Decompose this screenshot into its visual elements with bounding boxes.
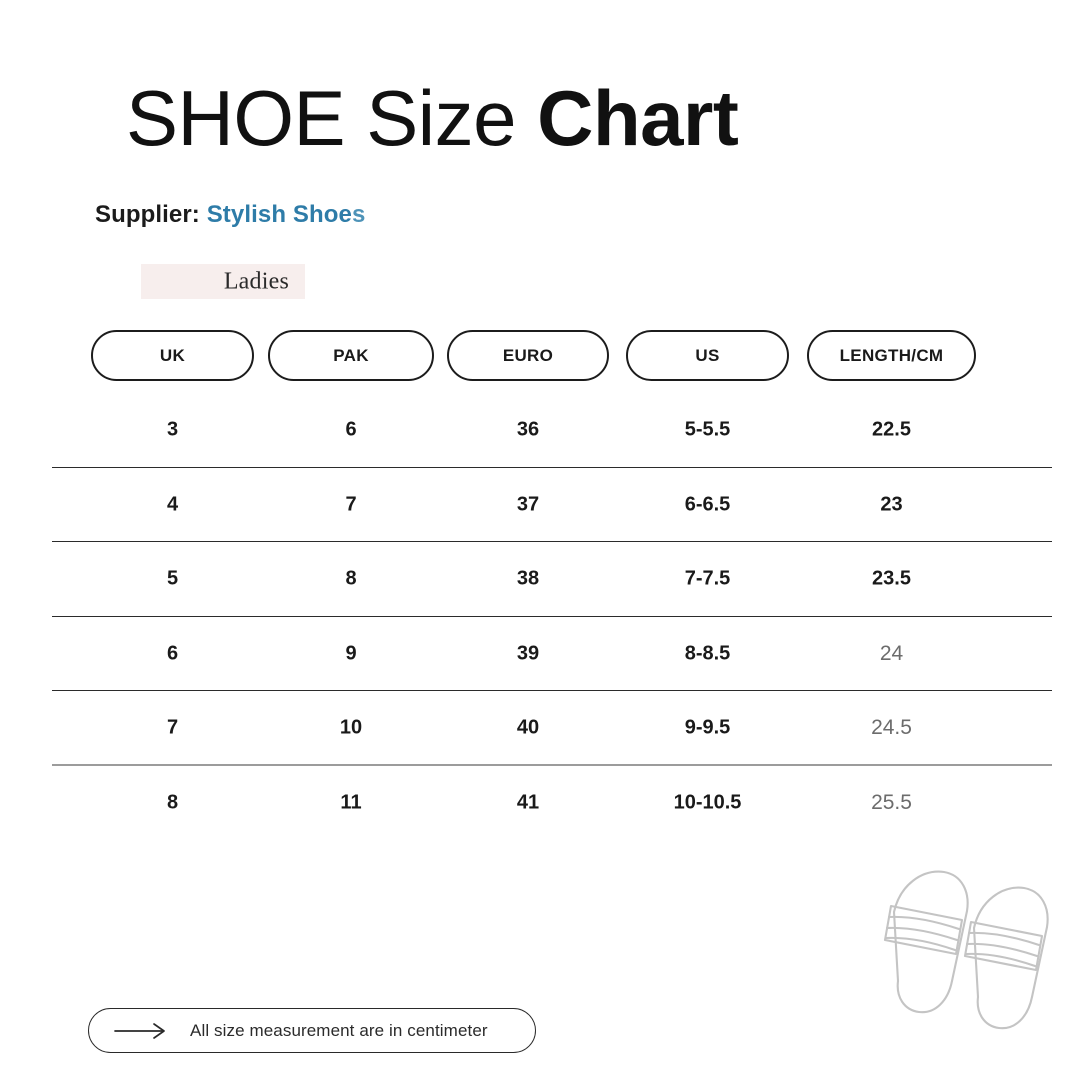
arrow-right-icon (114, 1022, 168, 1040)
table-body: 3 6 36 5-5.5 22.5 4 7 37 6-6.5 23 5 8 38… (0, 393, 1080, 840)
table-header-row: UK PAK EURO US LENGTH/CM (0, 330, 1080, 381)
cell-length-cm: 23.5 (807, 568, 976, 591)
cell-uk: 5 (91, 568, 254, 591)
page-title: SHOE Size Chart (126, 79, 738, 157)
cell-euro: 40 (447, 717, 609, 740)
cell-us: 6-6.5 (626, 493, 789, 516)
cell-euro: 41 (447, 791, 609, 814)
footer-note-text: All size measurement are in centimeter (190, 1021, 488, 1041)
cell-uk: 7 (91, 717, 254, 740)
cell-pak: 6 (268, 419, 434, 442)
cell-length-cm: 23 (807, 493, 976, 516)
cell-length-cm: 24 (807, 642, 976, 666)
cell-uk: 6 (91, 642, 254, 665)
column-header-pak[interactable]: PAK (268, 330, 434, 381)
page-title-light: SHOE Size (126, 74, 537, 162)
table-row: 5 8 38 7-7.5 23.5 (0, 542, 1080, 617)
table-row: 3 6 36 5-5.5 22.5 (0, 393, 1080, 468)
category-badge-label: Ladies (141, 268, 289, 295)
cell-euro: 39 (447, 642, 609, 665)
table-row: 7 10 40 9-9.5 24.5 (0, 691, 1080, 766)
cell-pak: 9 (268, 642, 434, 665)
table-row: 6 9 39 8-8.5 24 (0, 617, 1080, 692)
cell-pak: 8 (268, 568, 434, 591)
cell-euro: 38 (447, 568, 609, 591)
cell-length-cm: 25.5 (807, 791, 976, 815)
column-header-length-cm[interactable]: LENGTH/CM (807, 330, 976, 381)
cell-pak: 7 (268, 493, 434, 516)
category-badge-ladies: Ladies (141, 264, 305, 299)
column-header-uk[interactable]: UK (91, 330, 254, 381)
cell-us: 7-7.5 (626, 568, 789, 591)
cell-uk: 3 (91, 419, 254, 442)
supplier-line: Supplier: Stylish Shoes (95, 201, 365, 229)
supplier-label: Supplier: (95, 201, 200, 228)
cell-pak: 10 (268, 717, 434, 740)
cell-uk: 4 (91, 493, 254, 516)
footer-note: All size measurement are in centimeter (88, 1008, 536, 1053)
cell-pak: 11 (268, 791, 434, 814)
cell-length-cm: 22.5 (807, 419, 976, 442)
slippers-illustration (878, 858, 1058, 1030)
cell-euro: 37 (447, 493, 609, 516)
cell-us: 5-5.5 (626, 419, 789, 442)
cell-us: 10-10.5 (626, 791, 789, 814)
cell-uk: 8 (91, 791, 254, 814)
shoe-size-chart-page: SHOE Size Chart Supplier: Stylish Shoes … (0, 0, 1080, 1080)
column-header-euro[interactable]: EURO (447, 330, 609, 381)
cell-length-cm: 24.5 (807, 716, 976, 740)
supplier-name-tail: s (352, 201, 365, 228)
table-row: 8 11 41 10-10.5 25.5 (0, 766, 1080, 841)
column-header-us[interactable]: US (626, 330, 789, 381)
page-title-bold: Chart (537, 74, 738, 162)
cell-euro: 36 (447, 419, 609, 442)
supplier-name: Stylish Shoe (207, 201, 352, 228)
cell-us: 9-9.5 (626, 717, 789, 740)
table-row: 4 7 37 6-6.5 23 (0, 468, 1080, 543)
cell-us: 8-8.5 (626, 642, 789, 665)
